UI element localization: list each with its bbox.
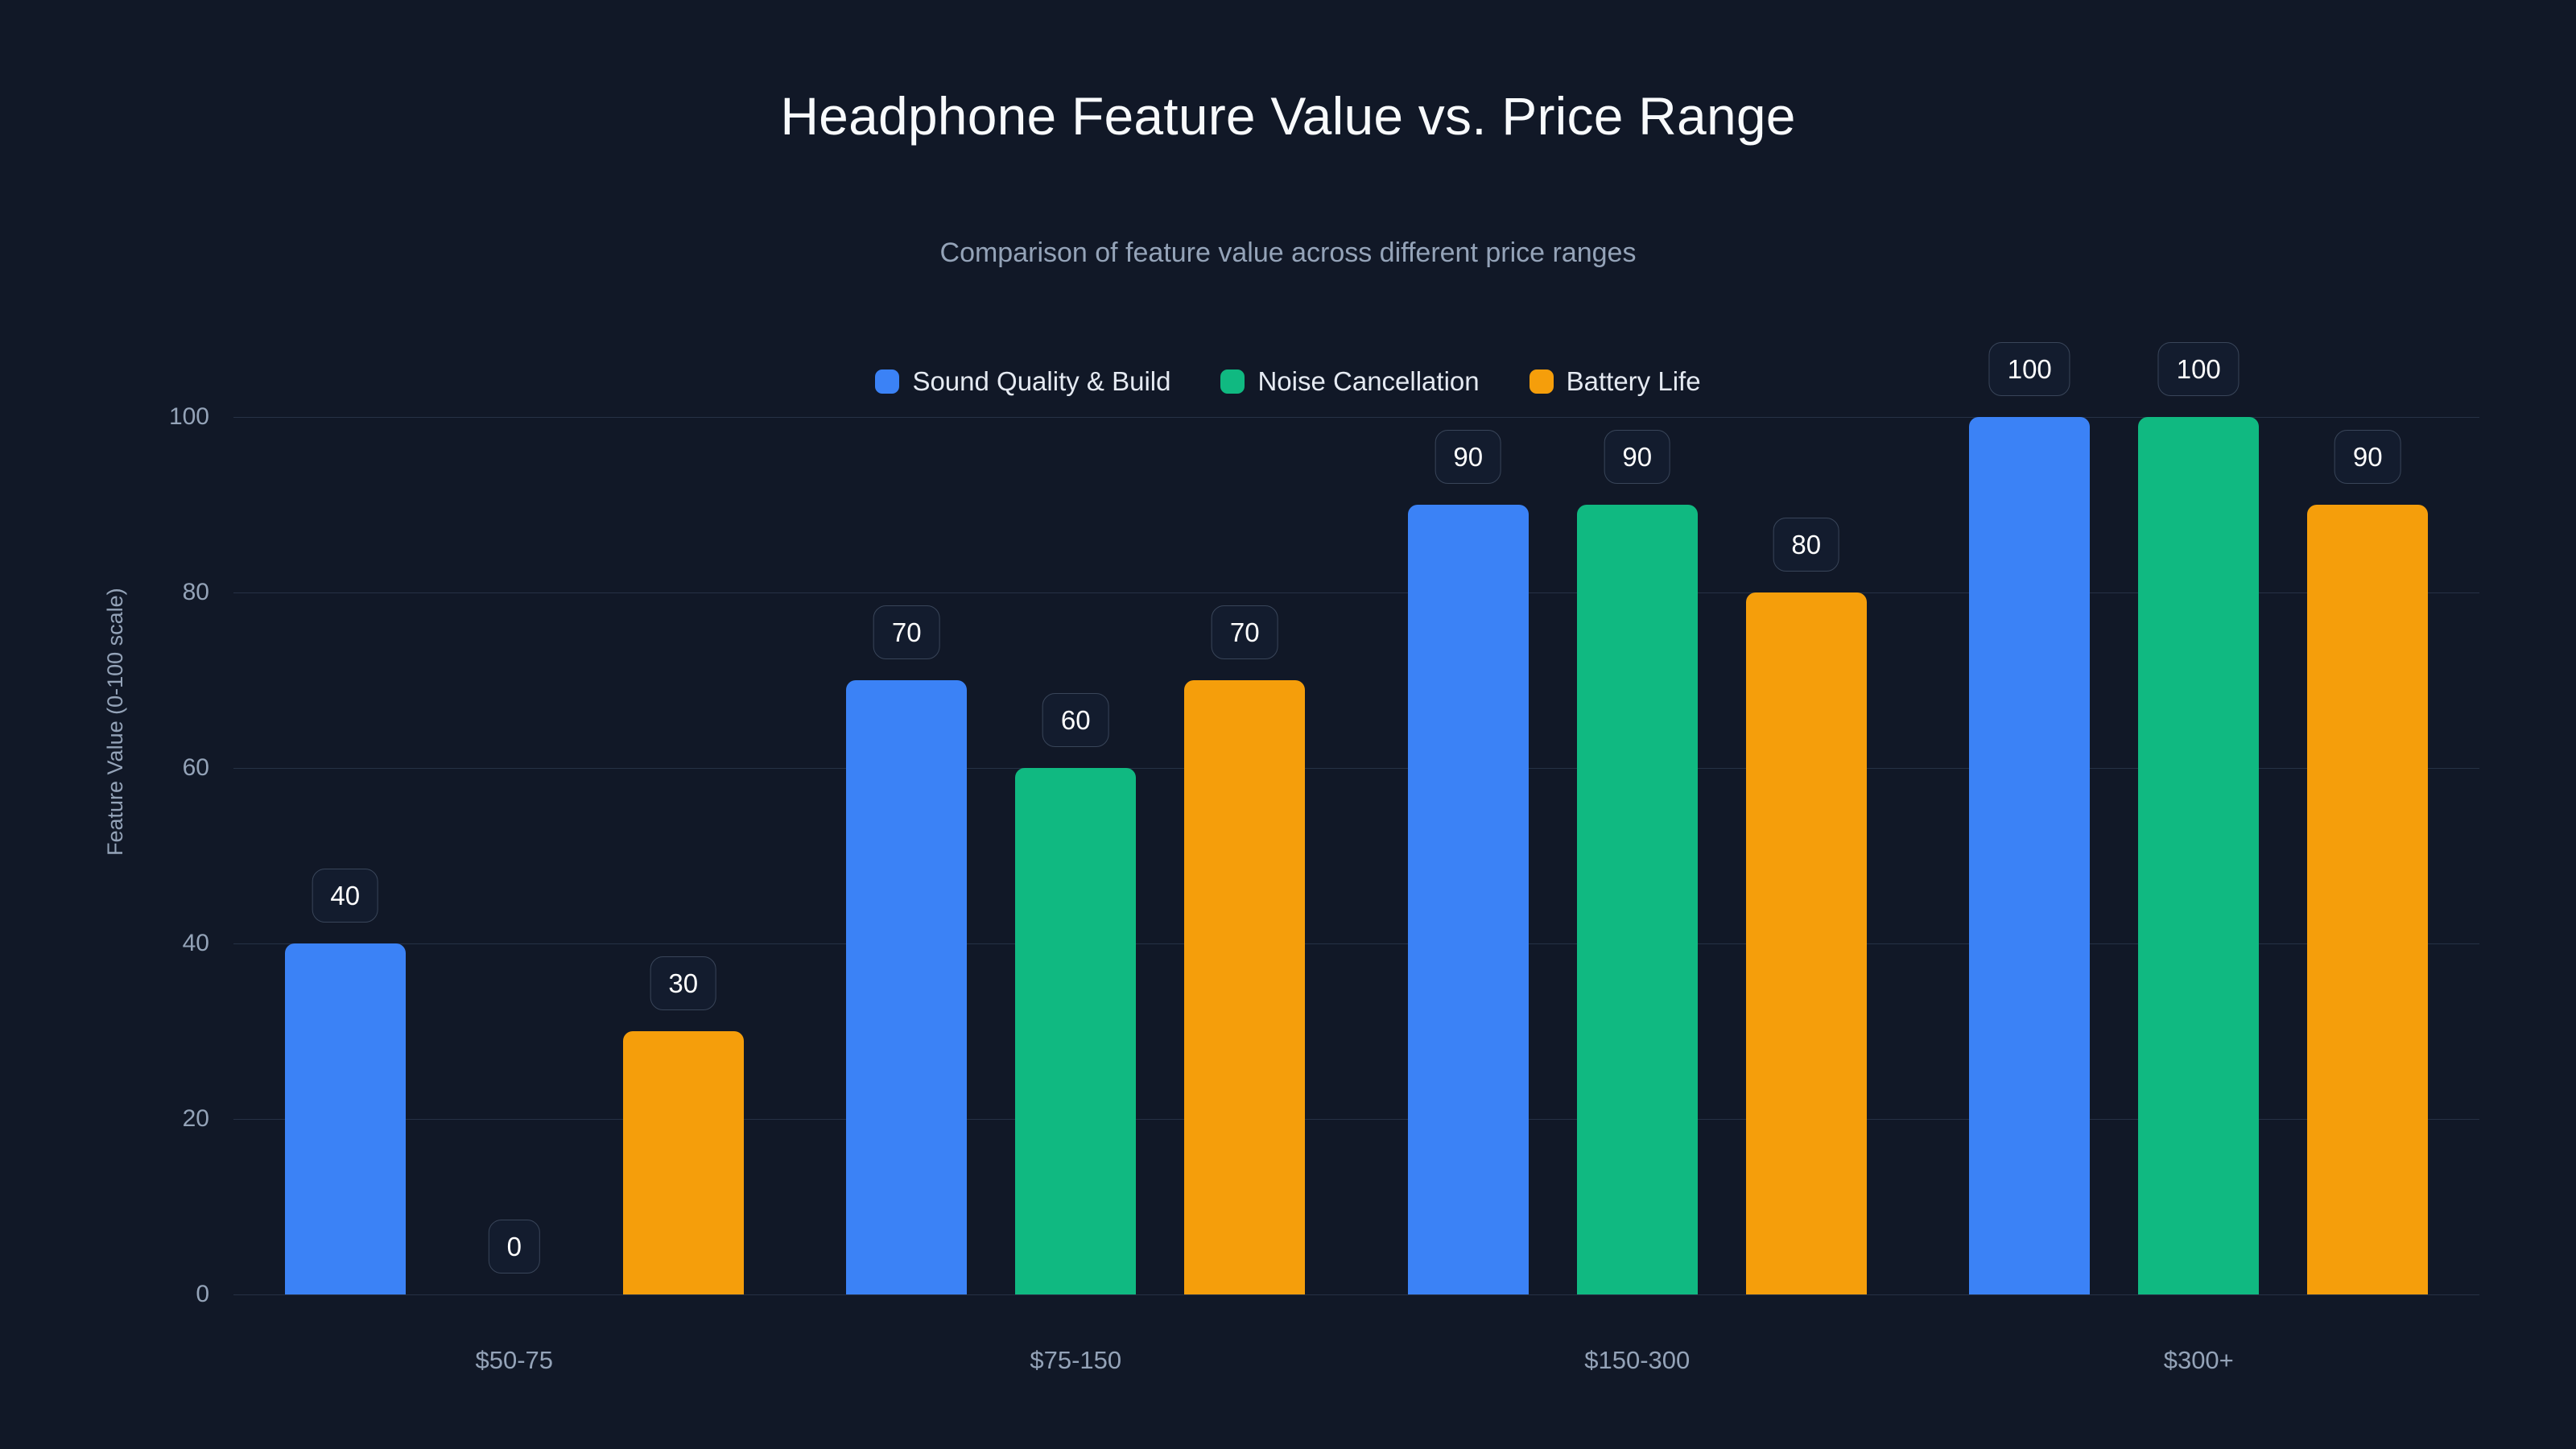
bar-value-label: 90	[1604, 430, 1670, 484]
x-axis-tick-label: $300+	[2164, 1346, 2234, 1375]
plot-area: 0204060801004003070607090908010010090	[233, 417, 2479, 1294]
chart-container: Headphone Feature Value vs. Price Range …	[0, 0, 2576, 1449]
bar-value-label: 100	[2158, 342, 2240, 396]
x-axis-tick-label: $50-75	[475, 1346, 553, 1375]
bar-value-label: 90	[2334, 430, 2401, 484]
y-axis-tick-label: 100	[105, 403, 209, 431]
gridline	[233, 1294, 2479, 1295]
bar-slot: 40	[285, 417, 406, 1294]
y-axis-tick-label: 60	[105, 754, 209, 782]
bar[interactable]	[285, 943, 406, 1294]
bar[interactable]	[2138, 417, 2259, 1294]
bar-slot: 90	[1577, 417, 1698, 1294]
bar[interactable]	[1184, 680, 1305, 1294]
bar-slot: 80	[1746, 417, 1867, 1294]
legend-label-sound-quality-build: Sound Quality & Build	[912, 366, 1170, 397]
bar[interactable]	[2307, 505, 2428, 1294]
bar-value-label: 70	[873, 605, 940, 659]
bar-value-label: 90	[1435, 430, 1501, 484]
x-axis-tick-label: $150-300	[1584, 1346, 1690, 1375]
bar-value-label: 40	[312, 869, 378, 923]
bar-value-label: 100	[1989, 342, 2070, 396]
bar-slot: 0	[454, 417, 575, 1294]
bar-slot: 60	[1015, 417, 1136, 1294]
legend-swatch-icon-battery-life	[1529, 369, 1554, 394]
bar-value-label: 0	[489, 1220, 540, 1274]
bar[interactable]	[1969, 417, 2090, 1294]
bar[interactable]	[846, 680, 967, 1294]
legend-swatch-icon-sound-quality-build	[875, 369, 899, 394]
bar-value-label: 30	[650, 956, 716, 1010]
bar-slot: 30	[623, 417, 744, 1294]
bar[interactable]	[1746, 592, 1867, 1294]
bar-slot: 70	[846, 417, 967, 1294]
y-axis-tick-label: 20	[105, 1105, 209, 1133]
bar[interactable]	[623, 1031, 744, 1294]
y-axis-tick-label: 80	[105, 579, 209, 606]
bar[interactable]	[1015, 768, 1136, 1294]
y-axis-title: Feature Value (0-100 scale)	[103, 588, 128, 856]
legend-label-noise-cancellation: Noise Cancellation	[1257, 366, 1479, 397]
legend-item-noise-cancellation[interactable]: Noise Cancellation	[1220, 366, 1479, 397]
chart-title: Headphone Feature Value vs. Price Range	[0, 85, 2576, 147]
x-axis-tick-label: $75-150	[1030, 1346, 1121, 1375]
y-axis-tick-label: 40	[105, 930, 209, 957]
bar-value-label: 80	[1773, 518, 1839, 572]
legend-label-battery-life: Battery Life	[1567, 366, 1701, 397]
bar[interactable]	[1577, 505, 1698, 1294]
bar-slot: 100	[1969, 417, 2090, 1294]
legend-item-battery-life[interactable]: Battery Life	[1529, 366, 1701, 397]
bar-slot: 100	[2138, 417, 2259, 1294]
bar-value-label: 70	[1212, 605, 1278, 659]
bar[interactable]	[1408, 505, 1529, 1294]
chart-subtitle: Comparison of feature value across diffe…	[0, 237, 2576, 269]
bar-slot: 70	[1184, 417, 1305, 1294]
bar-value-label: 60	[1042, 693, 1109, 747]
bar-slot: 90	[2307, 417, 2428, 1294]
legend-item-sound-quality-build[interactable]: Sound Quality & Build	[875, 366, 1170, 397]
legend-swatch-icon-noise-cancellation	[1220, 369, 1245, 394]
y-axis-tick-label: 0	[105, 1281, 209, 1308]
bar-slot: 90	[1408, 417, 1529, 1294]
